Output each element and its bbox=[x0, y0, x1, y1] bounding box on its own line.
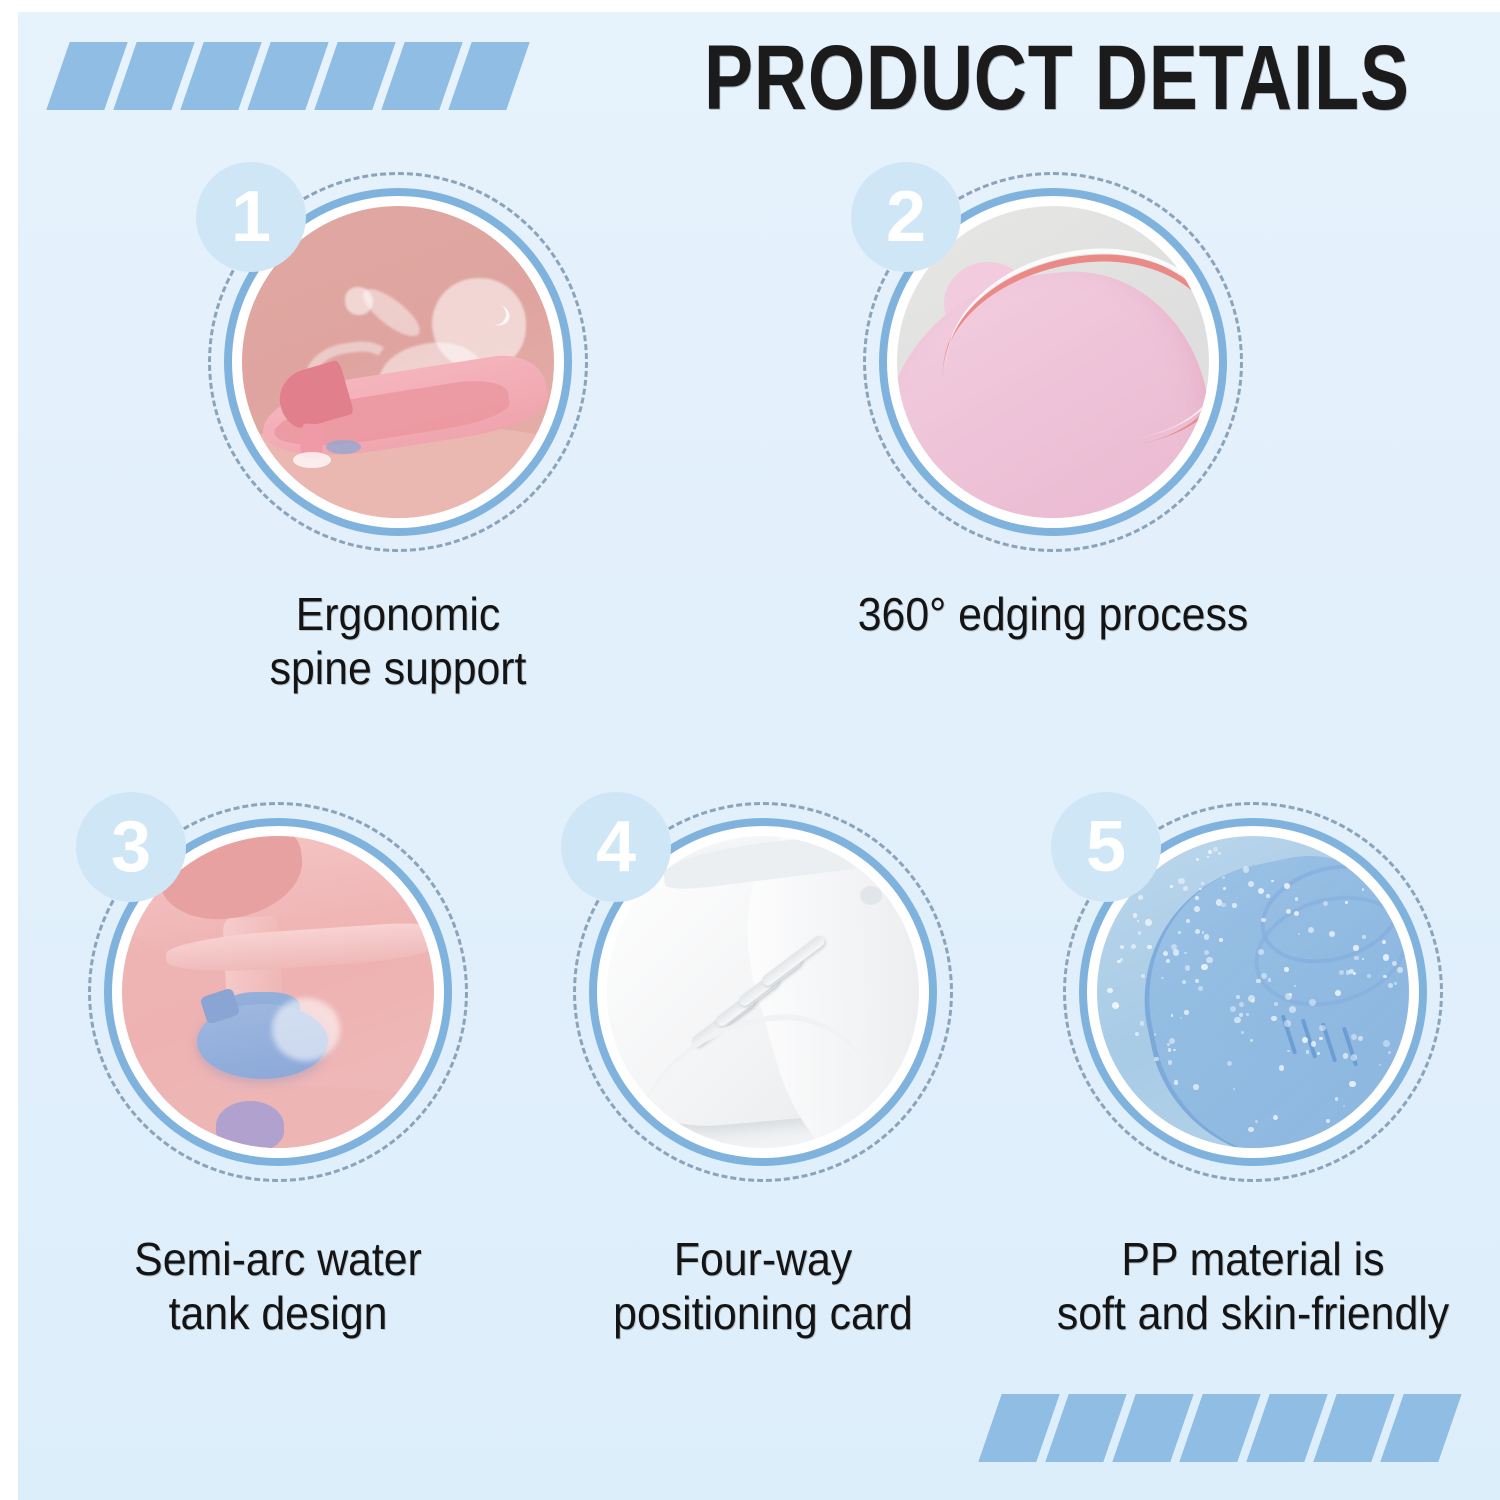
feature-4-number-badge: 4 bbox=[561, 792, 671, 902]
feature-4-circle: 4 bbox=[573, 802, 953, 1182]
comb-ridge bbox=[1301, 1019, 1318, 1059]
comb-ridge bbox=[1321, 1023, 1338, 1063]
page-title: PRODUCT DETAILS bbox=[704, 30, 1392, 127]
feature-1-circle: 1 bbox=[208, 172, 588, 552]
decorative-slashes-bottom-right bbox=[990, 1394, 1450, 1462]
feature-3: 3 Semi-arc water tank design bbox=[88, 802, 468, 1182]
feature-1-caption: Ergonomic spine support bbox=[128, 587, 667, 696]
slash-bar bbox=[1380, 1394, 1461, 1462]
feature-1: 1 Ergonomic spine support bbox=[208, 172, 588, 552]
feature-1-number-badge: 1 bbox=[196, 162, 306, 272]
feature-2-circle: 2 bbox=[863, 172, 1243, 552]
positioning-ridge bbox=[713, 975, 779, 1028]
comb-ridge bbox=[1341, 1027, 1358, 1067]
feature-5-circle: 5 bbox=[1063, 802, 1443, 1182]
feature-3-caption: Semi-arc water tank design bbox=[18, 1232, 562, 1341]
feature-2-caption: 360° edging process bbox=[783, 587, 1322, 641]
feature-5-caption: PP material is soft and skin-friendly bbox=[946, 1232, 1500, 1341]
feature-5-number-badge: 5 bbox=[1051, 792, 1161, 902]
feature-2-number-badge: 2 bbox=[851, 162, 961, 272]
positioning-ridge bbox=[737, 955, 803, 1008]
feature-5: 5 PP material is soft and skin-friendly bbox=[1063, 802, 1443, 1182]
comb-ridge bbox=[1281, 1014, 1298, 1054]
positioning-ridge bbox=[690, 995, 756, 1048]
feature-3-number-badge: 3 bbox=[76, 792, 186, 902]
slash-bar bbox=[448, 42, 529, 110]
product-details-card: PRODUCT DETAILS bbox=[18, 12, 1500, 1500]
feature-2: 2 360° edging process bbox=[863, 172, 1243, 552]
positioning-ridge bbox=[760, 935, 826, 988]
feature-3-circle: 3 bbox=[88, 802, 468, 1182]
decorative-slashes-top-left bbox=[58, 42, 518, 110]
feature-4: 4 Four-way positioning card bbox=[573, 802, 953, 1182]
